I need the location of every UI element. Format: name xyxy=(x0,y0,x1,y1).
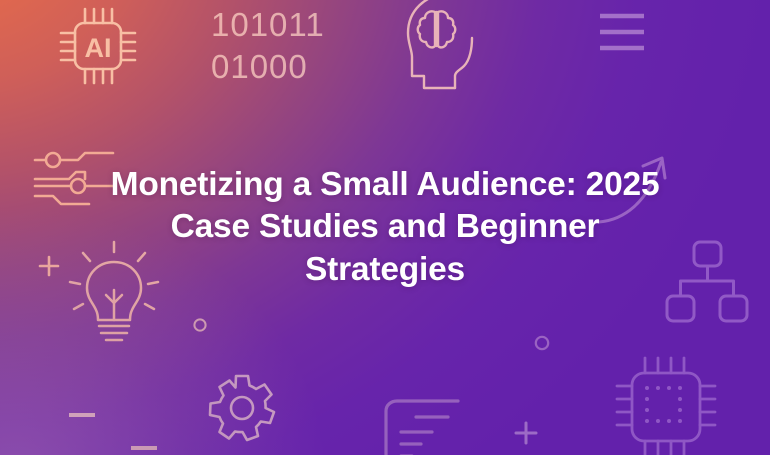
title-container: Monetizing a Small Audience: 2025 Case S… xyxy=(0,0,770,455)
hero-banner: AI 10101101000 xyxy=(0,0,770,455)
page-title: Monetizing a Small Audience: 2025 Case S… xyxy=(105,164,665,291)
